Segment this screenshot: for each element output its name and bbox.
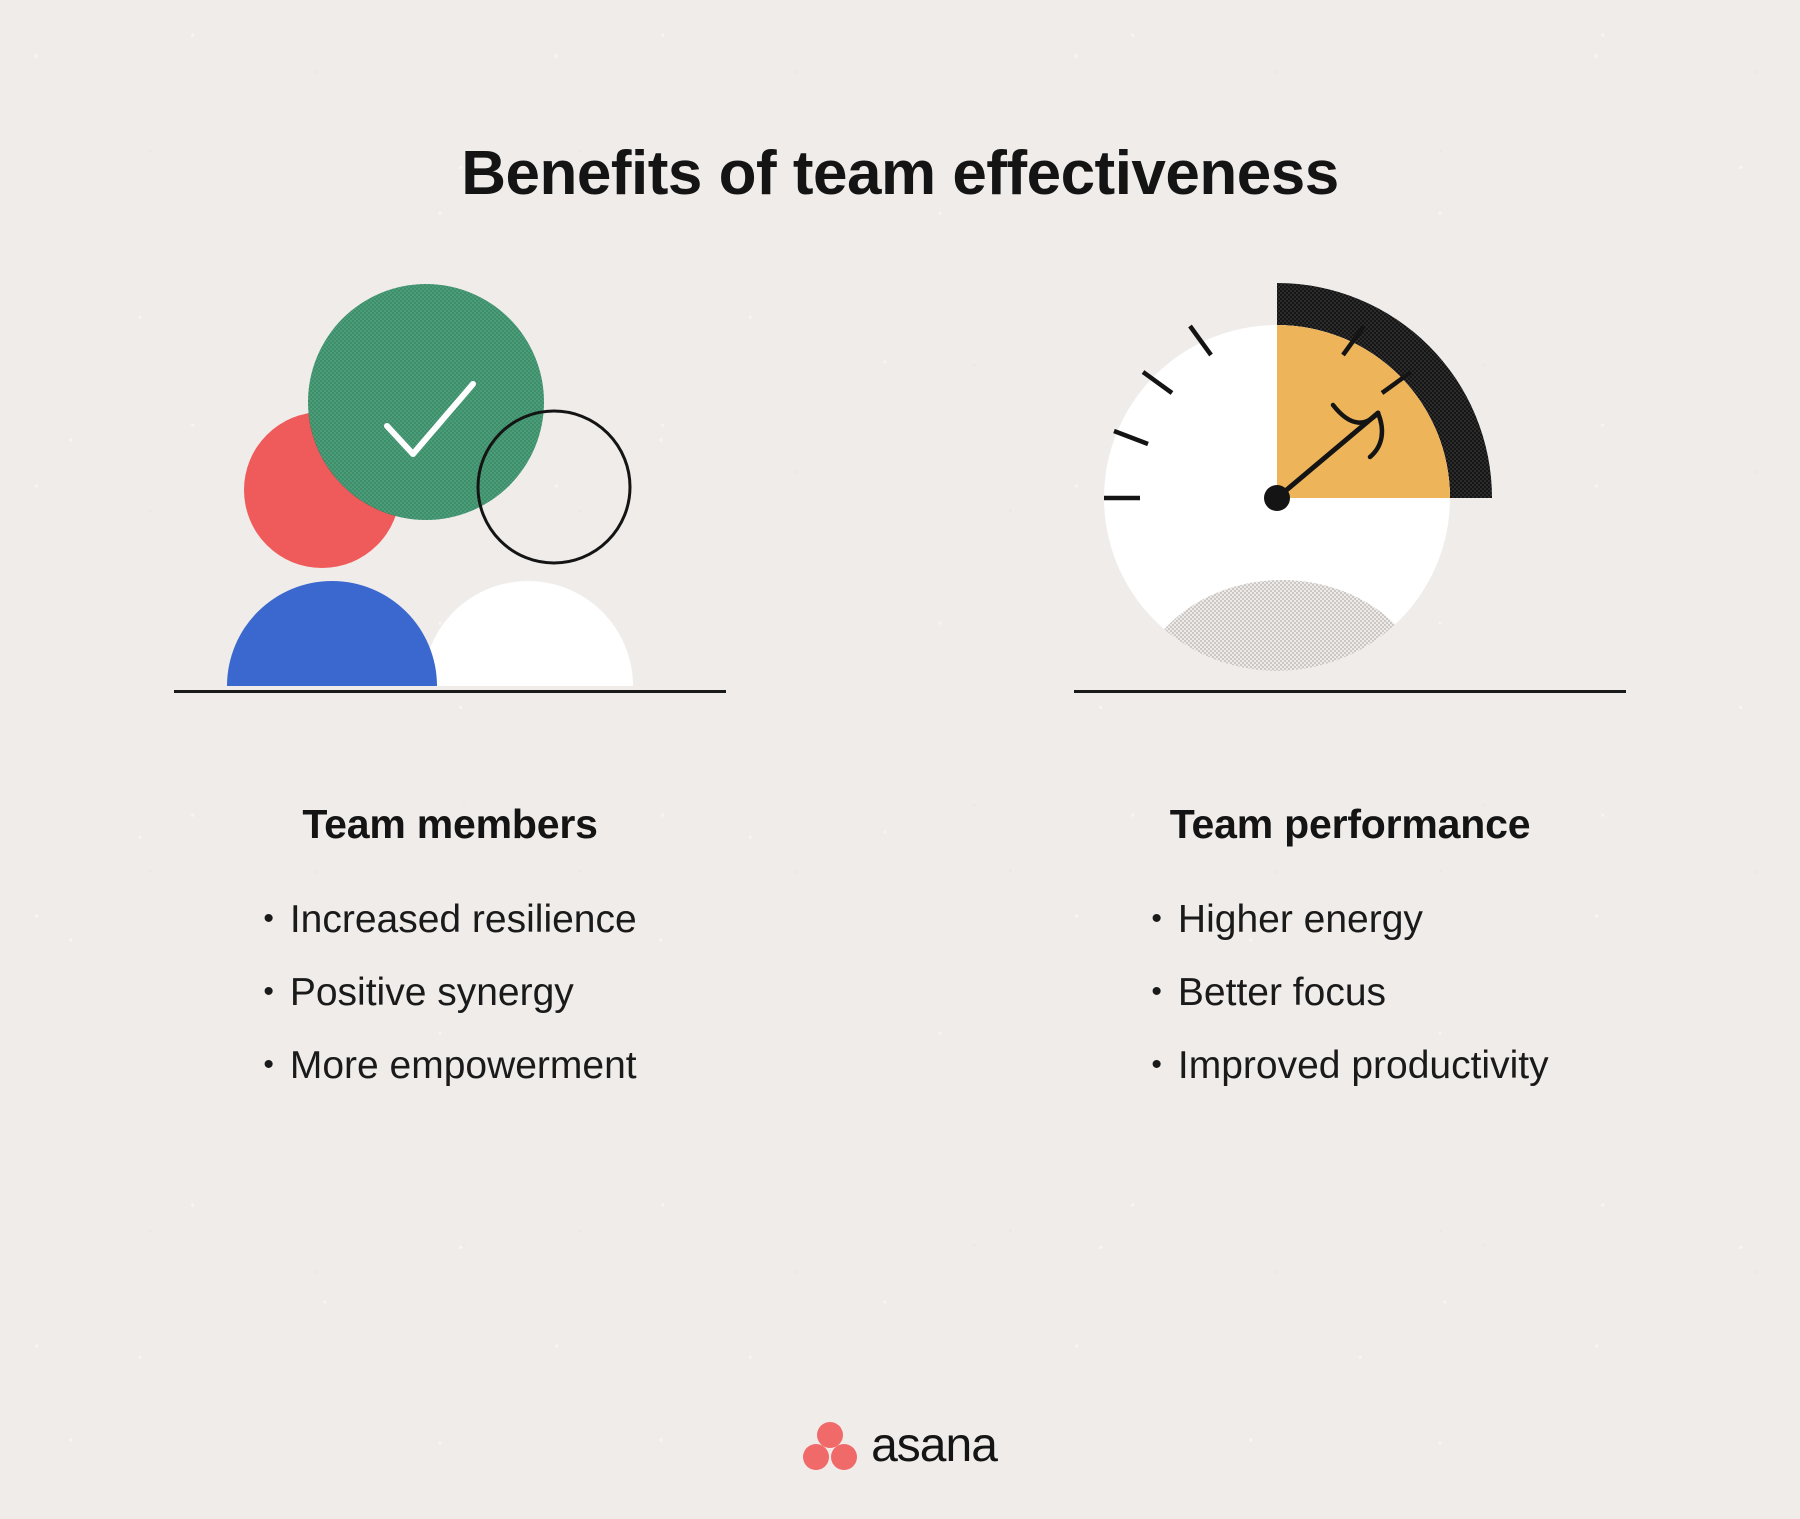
list-item-label: More empowerment (290, 1046, 637, 1085)
page-title: Benefits of team effectiveness (0, 138, 1800, 209)
team-performance-illustration (1070, 250, 1630, 690)
asana-logo-icon (803, 1421, 857, 1471)
green-circle-shape (308, 284, 544, 520)
asana-logo: asana (0, 1418, 1800, 1473)
asana-logo-wordmark: asana (871, 1418, 997, 1473)
list-item: • Better focus (1151, 973, 1548, 1012)
bullet-icon: • (1151, 904, 1162, 934)
gauge-needle-hub (1264, 485, 1290, 511)
team-members-illustration (170, 250, 730, 690)
team-members-graphic (170, 250, 730, 690)
list-item: • Increased resilience (263, 900, 636, 939)
list-item-label: Increased resilience (290, 900, 637, 939)
columns-container: Team members • Increased resilience • Po… (0, 250, 1800, 1158)
list-item-label: Higher energy (1178, 900, 1423, 939)
left-divider-line (174, 690, 726, 693)
right-divider-line (1074, 690, 1626, 693)
list-item: • Improved productivity (1151, 1046, 1548, 1085)
blue-body-shape (227, 581, 437, 686)
list-item-label: Improved productivity (1178, 1046, 1549, 1085)
column-heading-team-members: Team members (302, 801, 597, 848)
list-item-label: Positive synergy (290, 973, 574, 1012)
benefits-list-team-performance: • Higher energy • Better focus • Improve… (1151, 900, 1548, 1119)
list-item: • More empowerment (263, 1046, 636, 1085)
bullet-icon: • (1151, 1050, 1162, 1080)
list-item: • Higher energy (1151, 900, 1548, 939)
bullet-icon: • (263, 1050, 274, 1080)
performance-gauge-graphic (1070, 250, 1630, 690)
column-team-members: Team members • Increased resilience • Po… (0, 250, 900, 1158)
bullet-icon: • (263, 977, 274, 1007)
column-heading-team-performance: Team performance (1170, 801, 1531, 848)
list-item-label: Better focus (1178, 973, 1386, 1012)
white-body-shape (423, 581, 633, 686)
benefits-list-team-members: • Increased resilience • Positive synerg… (263, 900, 636, 1119)
bullet-icon: • (263, 904, 274, 934)
column-team-performance: Team performance • Higher energy • Bette… (900, 250, 1800, 1158)
list-item: • Positive synergy (263, 973, 636, 1012)
bullet-icon: • (1151, 977, 1162, 1007)
